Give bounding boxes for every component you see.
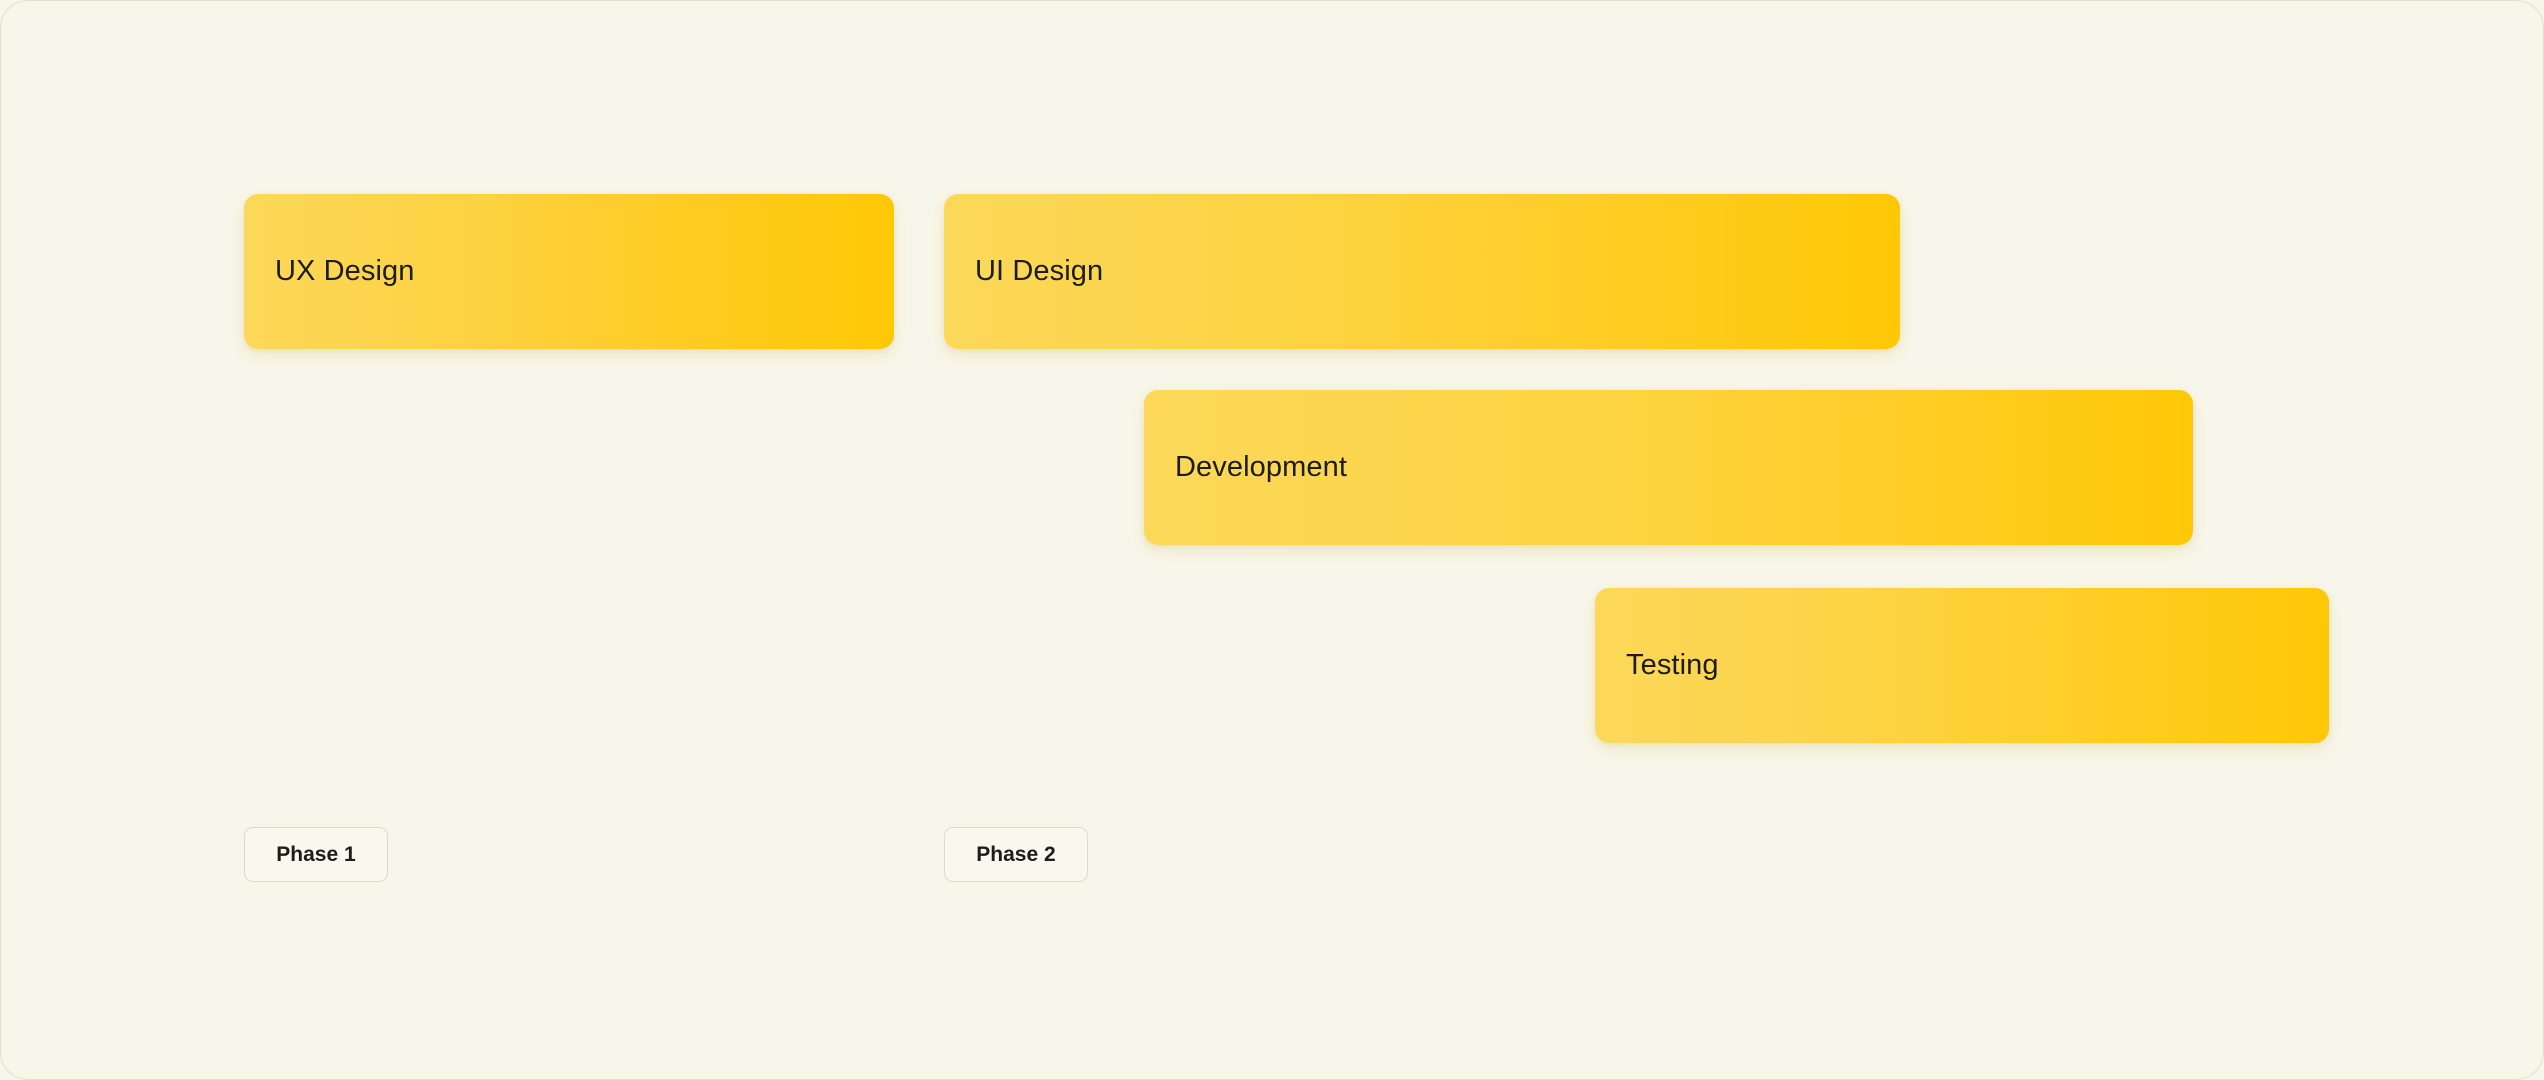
gantt-bar-label: Development (1144, 453, 1347, 482)
gantt-axis-tick-phase-1[interactable]: Phase 1 (244, 827, 388, 882)
gantt-plot-area: UX Design UI Design Development Testing … (1, 1, 2544, 1080)
gantt-bar-label: UX Design (244, 257, 415, 286)
gantt-bar-label: UI Design (944, 257, 1103, 286)
gantt-bar-ux-design[interactable]: UX Design (244, 194, 894, 349)
gantt-chart-canvas: UX Design UI Design Development Testing … (0, 0, 2544, 1080)
gantt-bar-label: Testing (1595, 651, 1719, 680)
gantt-axis-tick-label: Phase 1 (276, 844, 355, 865)
gantt-bar-development[interactable]: Development (1144, 390, 2193, 545)
gantt-bar-testing[interactable]: Testing (1595, 588, 2329, 743)
gantt-bar-ui-design[interactable]: UI Design (944, 194, 1900, 349)
gantt-axis-tick-label: Phase 2 (976, 844, 1055, 865)
gantt-axis-tick-phase-2[interactable]: Phase 2 (944, 827, 1088, 882)
